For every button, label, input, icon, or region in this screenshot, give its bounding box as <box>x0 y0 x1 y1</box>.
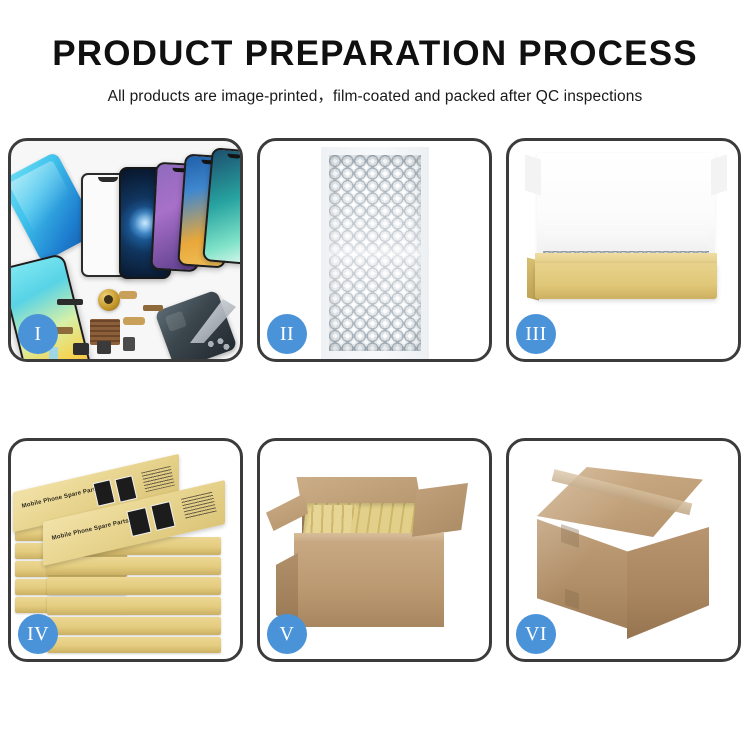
sealed-carton-front-icon <box>537 519 629 629</box>
stacked-box <box>47 577 221 595</box>
product-preparation-infographic: PRODUCT PREPARATION PROCESS All products… <box>0 0 750 750</box>
step-panel-4: Mobile Phone Spare Parts Mobile Phone Sp… <box>8 438 243 662</box>
carton-right-flap-icon <box>412 483 468 539</box>
step-badge-4: IV <box>18 614 58 654</box>
stacked-box <box>47 557 221 575</box>
stacked-box <box>47 637 221 653</box>
flex-cable-icon <box>57 299 83 305</box>
button-part-icon <box>123 337 135 351</box>
step-badge-6: VI <box>516 614 556 654</box>
gold-flex-icon <box>119 291 137 299</box>
step-panel-6: VI <box>506 438 741 662</box>
step-panel-3: III <box>506 138 741 362</box>
page-subtitle: All products are image-printed，film-coat… <box>0 84 750 106</box>
ribbon-cable-icon <box>143 305 163 311</box>
copper-coil-icon <box>98 289 120 311</box>
step-panel-5: V <box>257 438 492 662</box>
sealed-carton-side-icon <box>627 527 709 639</box>
screws-icon <box>206 337 230 351</box>
wrap-seam-icon <box>329 155 421 351</box>
kraft-box-tray-icon <box>535 263 717 299</box>
stacked-box <box>47 617 221 635</box>
carton-front-icon <box>294 541 444 627</box>
camera-module-icon <box>73 343 89 355</box>
step-badge-2: II <box>267 314 307 354</box>
process-step-grid: I II III <box>8 138 742 662</box>
gold-connector-icon <box>123 317 145 325</box>
step-badge-1: I <box>18 314 58 354</box>
speaker-part-icon <box>97 341 111 354</box>
stacked-box <box>47 597 221 615</box>
step-badge-3: III <box>516 314 556 354</box>
step-panel-1: I <box>8 138 243 362</box>
step-badge-5: V <box>267 614 307 654</box>
page-title: PRODUCT PREPARATION PROCESS <box>0 36 750 73</box>
header: PRODUCT PREPARATION PROCESS All products… <box>0 0 750 106</box>
step-panel-2: II <box>257 138 492 362</box>
